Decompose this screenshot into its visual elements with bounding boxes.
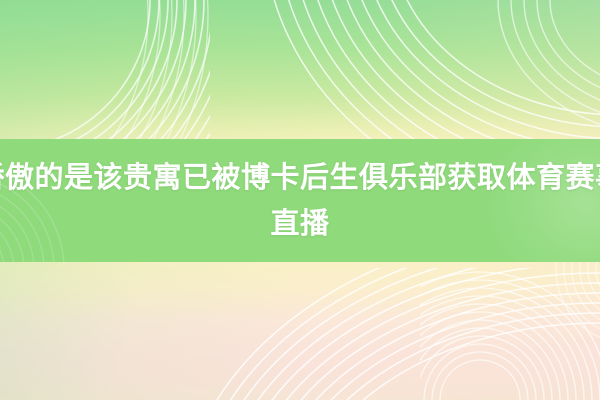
headline-line-2: 直播 [270, 201, 329, 247]
headline-line-1: 娇傲的是该贵寓已被博卡后生俱乐部获取体育赛事 [0, 155, 600, 201]
arc-lines-bottom-right-icon [420, 250, 600, 400]
headline-text: 娇傲的是该贵寓已被博卡后生俱乐部获取体育赛事 直播 [0, 139, 600, 262]
banner-image: 娇傲的是该贵寓已被博卡后生俱乐部获取体育赛事 直播 [0, 0, 600, 400]
